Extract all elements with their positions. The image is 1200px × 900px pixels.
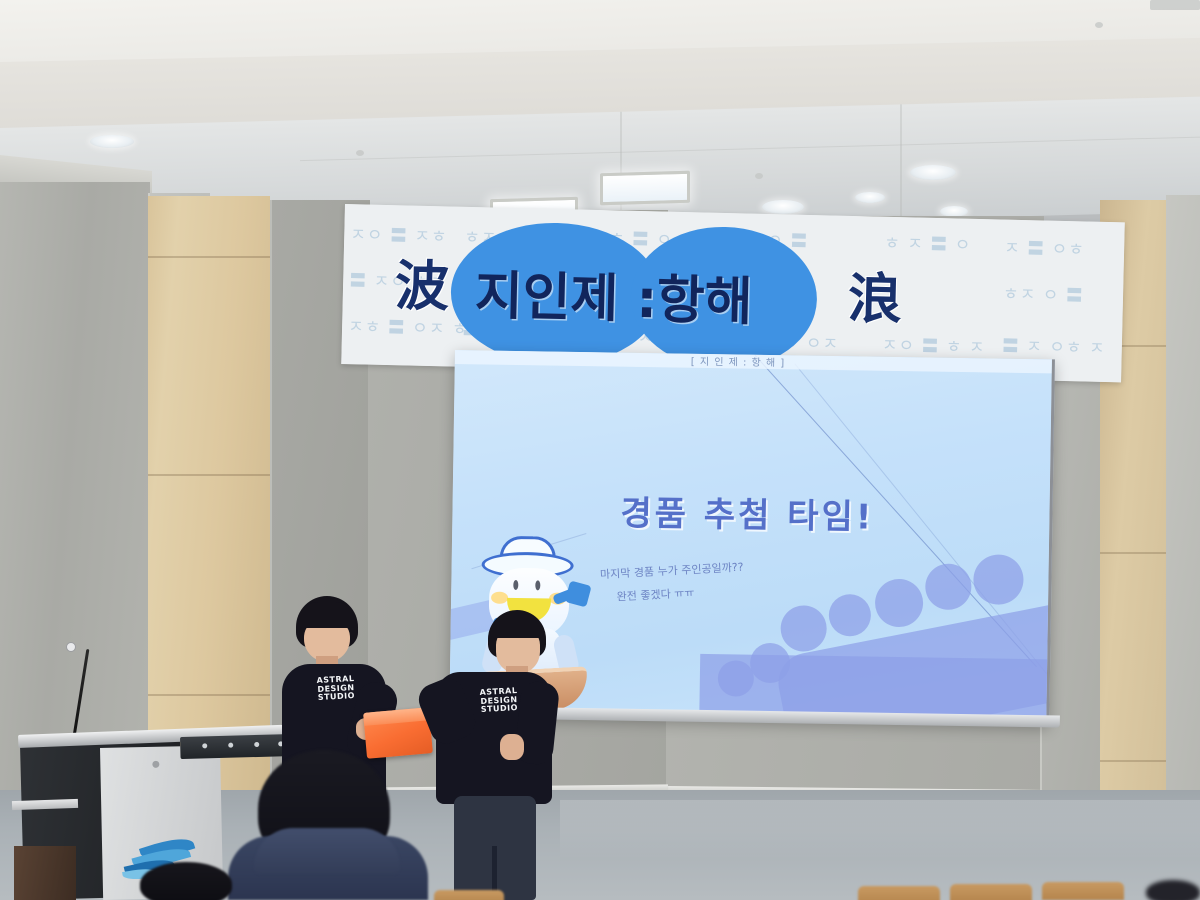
wall-far-right	[1166, 195, 1200, 805]
hoodie-line-3: STUDIO	[318, 691, 356, 702]
mascot-eye-right	[535, 580, 540, 590]
mascot-cheek-left	[491, 592, 508, 604]
audience-chair	[858, 886, 940, 900]
podium-control-rail	[180, 734, 291, 759]
prize-box	[363, 707, 433, 759]
screen-overlay-text: [ 지 인 제 : 항 해 ]	[691, 353, 786, 369]
ceiling-sensor	[755, 173, 763, 179]
ceiling-light-panel	[600, 171, 690, 206]
hoodie-line-3: STUDIO	[481, 703, 519, 714]
banner-hanja-left: 波	[394, 241, 450, 321]
floor-reflection	[560, 800, 1200, 860]
banner-bubble-left-text: 지인제 :	[474, 253, 658, 332]
ceiling-vent	[1150, 0, 1200, 10]
wall-left-panel	[0, 182, 150, 802]
ceiling-downlight	[90, 135, 134, 148]
slide-title: 경품 추첨 타임!	[620, 486, 875, 539]
ceiling-sensor	[1095, 22, 1103, 28]
audience-member-right-head	[1146, 880, 1200, 900]
audience-chair	[434, 890, 504, 900]
wood-column	[148, 196, 270, 804]
presenter-left-fringe	[298, 602, 356, 628]
audience-member-front-left-head	[140, 862, 232, 900]
podium-screw	[152, 761, 159, 768]
presenter-left-hoodie-text: ASTRAL DESIGN STUDIO	[307, 675, 364, 703]
ceiling-downlight	[855, 192, 885, 203]
audience-chair	[1042, 882, 1124, 900]
ceiling-downlight	[762, 200, 804, 214]
audience-member-front-center-hood	[254, 828, 400, 874]
audience-chair	[950, 884, 1032, 900]
banner-hanja-right: 浪	[847, 254, 903, 334]
presenter-right-hoodie-text: ASTRAL DESIGN STUDIO	[469, 686, 528, 715]
banner-bubble-right-text: 항해	[656, 257, 753, 334]
presenter-right: ASTRAL DESIGN STUDIO	[426, 610, 556, 900]
mascot-eye-left	[513, 580, 518, 590]
ceiling-sensor	[356, 150, 364, 156]
auditorium-scene: ㅈㅇ 〓 ㅈㅎ 〓 ㅈㅇ ㅎㅈ ㅈㅎ 〓 ㅇㅈ ㅎ ㅎㅈ 〓 ㅇ ㅇㅈ ㅎ 〓 …	[0, 0, 1200, 900]
ceiling-downlight	[910, 165, 956, 180]
podium-base	[14, 846, 76, 900]
presenter-right-fringe	[490, 614, 544, 638]
presenter-right-hand	[500, 734, 524, 760]
microphone-head	[66, 642, 76, 652]
